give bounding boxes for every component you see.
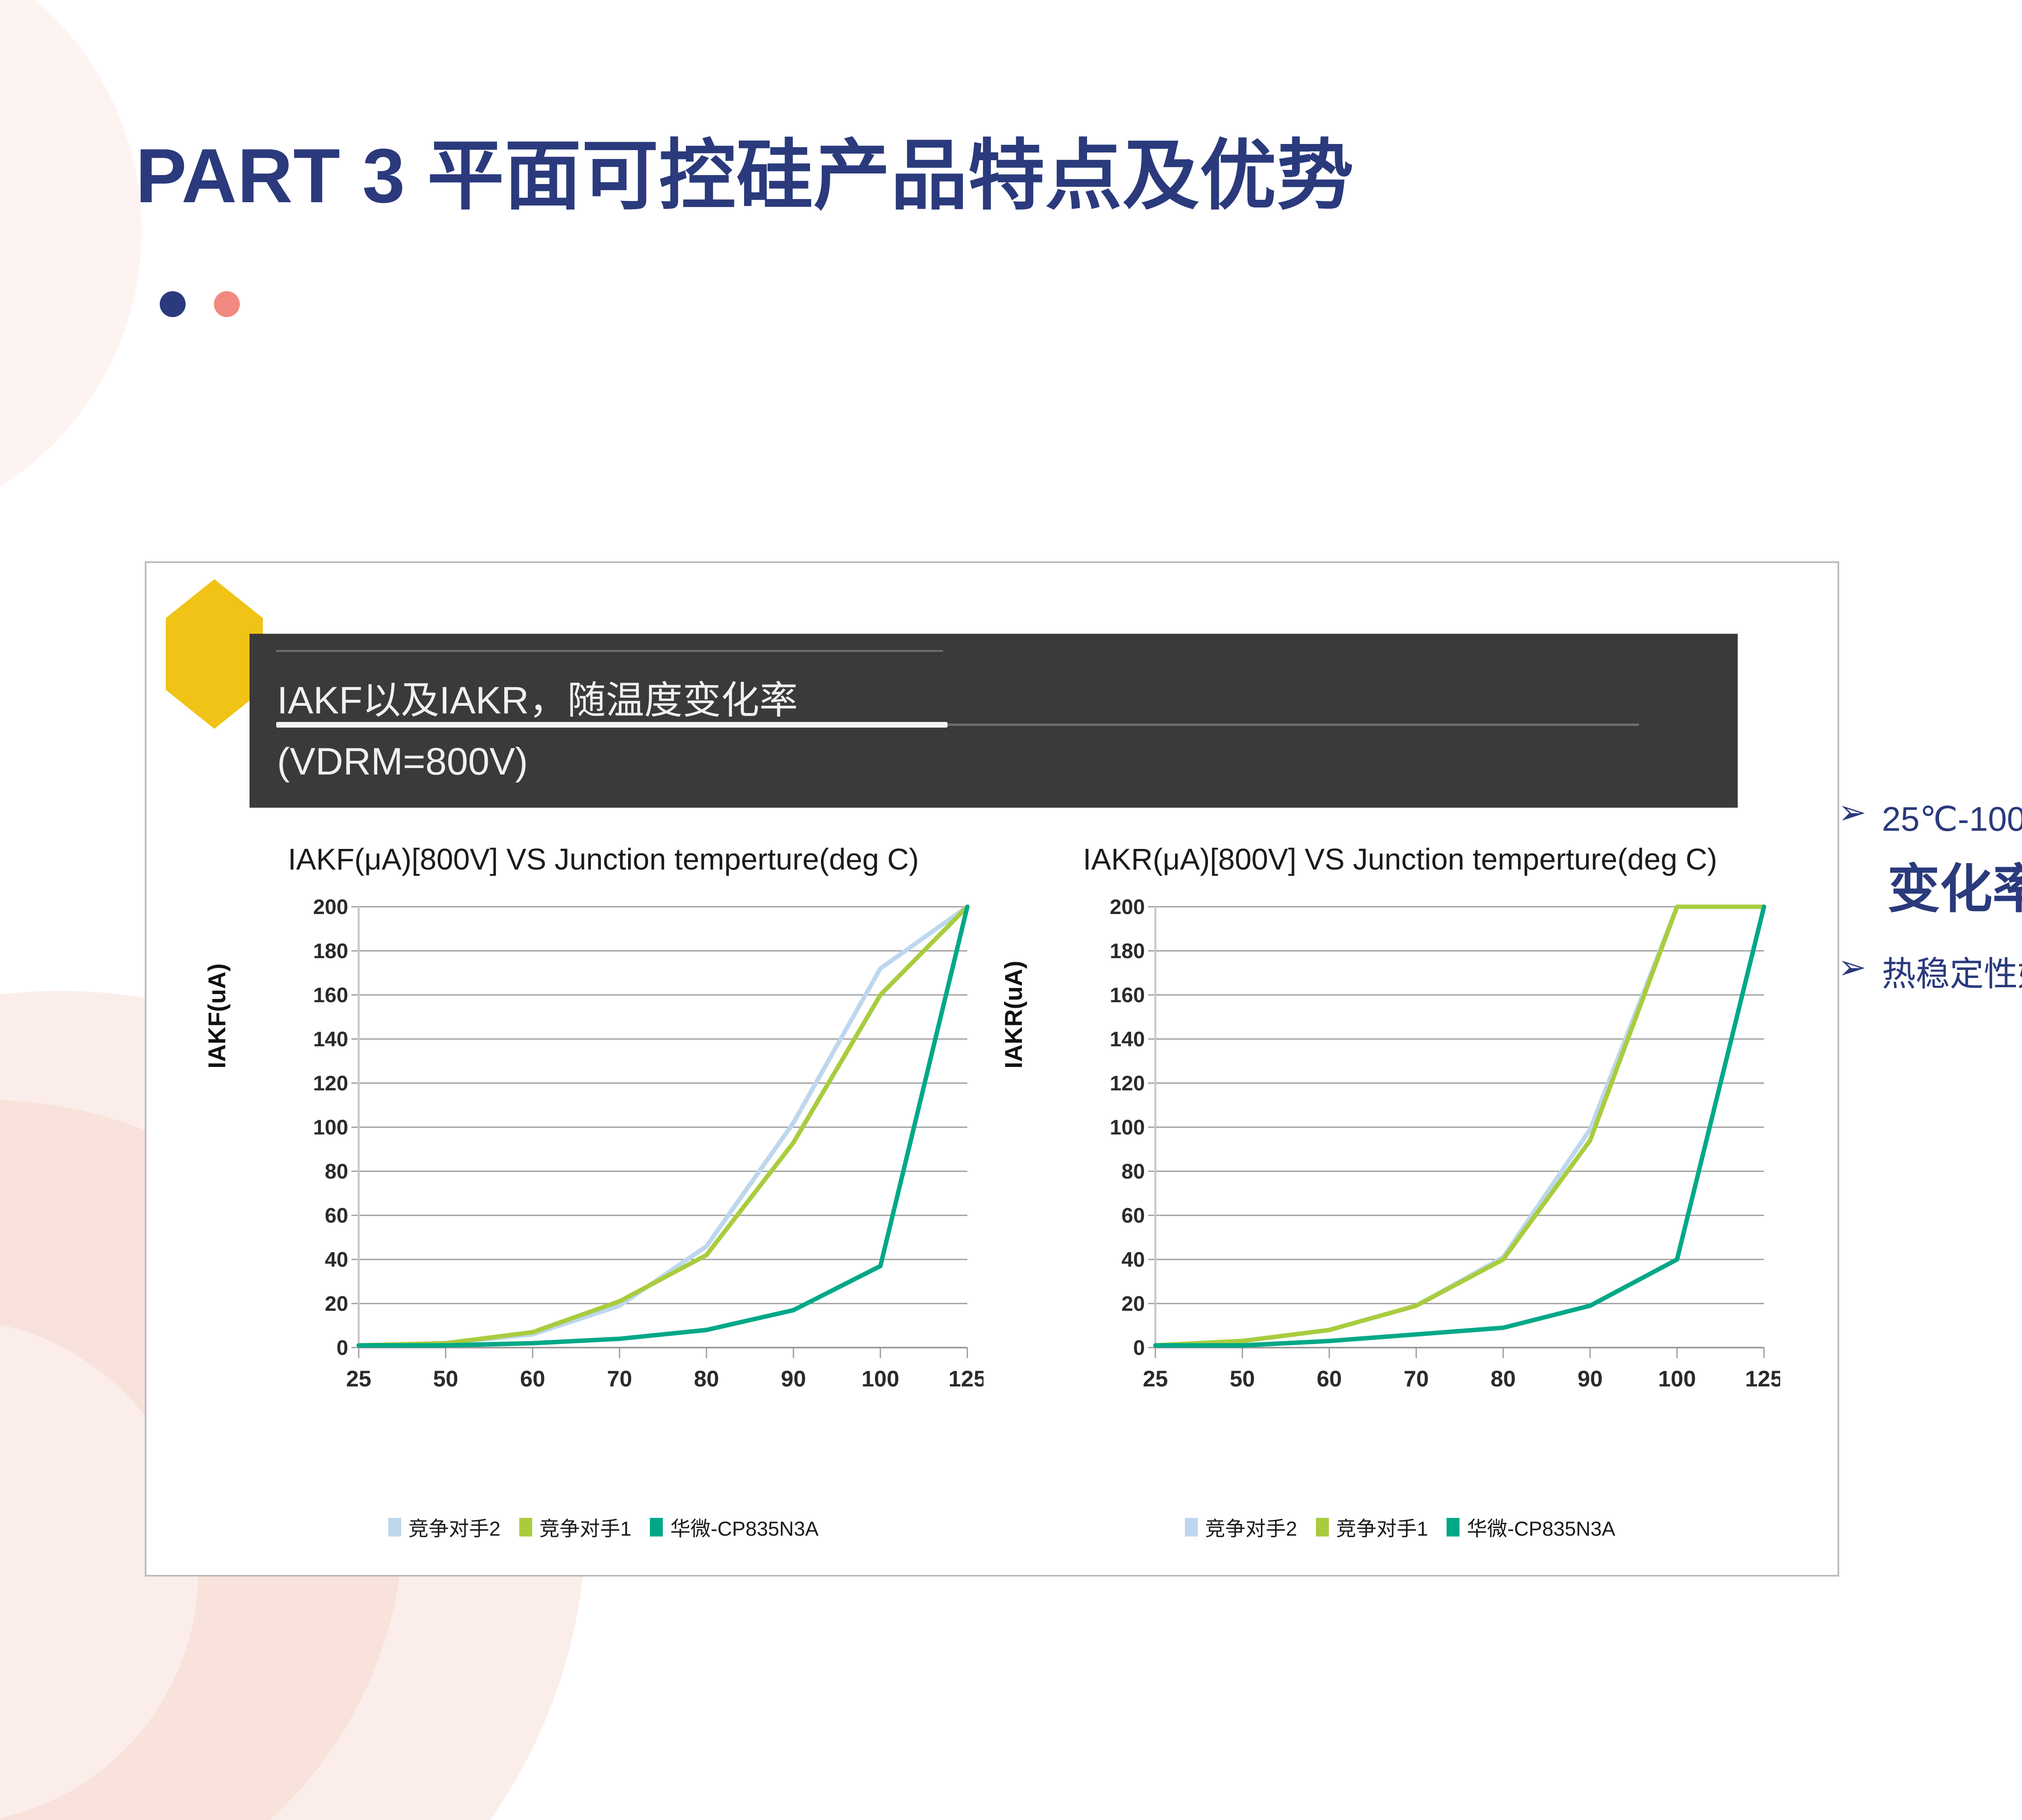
- legend-swatch-icon: [519, 1518, 532, 1536]
- legend-label: 华微-CP835N3A: [670, 1513, 819, 1542]
- svg-text:60: 60: [520, 1366, 545, 1391]
- legend-swatch-icon: [1316, 1518, 1329, 1536]
- svg-text:180: 180: [313, 940, 348, 963]
- svg-text:0: 0: [1133, 1336, 1145, 1360]
- legend-swatch-icon: [1447, 1518, 1459, 1536]
- chart-iakf: IAKF(μA)[800V] VS Junction temperture(de…: [207, 842, 1000, 1538]
- chart-iakr-svg: 0204060801001201401601802002550607080901…: [1085, 895, 1780, 1424]
- legend-entry: 华微-CP835N3A: [1447, 1513, 1615, 1542]
- legend-swatch-icon: [388, 1518, 401, 1536]
- bullet-arrow-icon: ➢: [1838, 793, 1866, 832]
- svg-text:200: 200: [1110, 895, 1145, 919]
- chart-iakf-plot: 0204060801001201401601802002550607080901…: [288, 895, 984, 1424]
- bullet-item-2: ➢ 热稳定性好！特别适合小触发产品，在高温环境下应用而不易失控！: [1838, 948, 2022, 1000]
- svg-text:25: 25: [346, 1366, 371, 1391]
- svg-text:160: 160: [313, 984, 348, 1007]
- svg-text:60: 60: [1121, 1204, 1145, 1227]
- legend-entry: 竞争对手1: [519, 1513, 632, 1542]
- svg-text:0: 0: [336, 1336, 348, 1360]
- bullet-arrow-icon: ➢: [1838, 948, 1866, 987]
- svg-text:50: 50: [433, 1366, 458, 1391]
- svg-text:100: 100: [313, 1116, 348, 1139]
- bullet-text-1: 25℃-100℃温度区间内的IAK（VDRM=800V）: [1882, 793, 2022, 845]
- figure-banner: IAKF以及IAKR，随温度变化率 (VDRM=800V): [250, 634, 1738, 808]
- svg-text:200: 200: [313, 895, 348, 919]
- svg-text:120: 120: [1110, 1072, 1145, 1095]
- hexagon-decor: [166, 579, 263, 729]
- legend-swatch-icon: [650, 1518, 663, 1536]
- legend-swatch-icon: [1185, 1518, 1198, 1536]
- title-decor-dots: [160, 291, 240, 317]
- svg-text:20: 20: [1121, 1292, 1145, 1316]
- chart-iakf-ylabel: IAKF(uA): [203, 963, 231, 1069]
- svg-text:140: 140: [313, 1028, 348, 1051]
- legend-entry: 竞争对手2: [1185, 1513, 1297, 1542]
- legend-entry: 竞争对手1: [1316, 1513, 1428, 1542]
- legend-entry: 竞争对手2: [388, 1513, 501, 1542]
- svg-text:160: 160: [1110, 984, 1145, 1007]
- page-title: PART 3 平面可控硅产品特点及优势: [135, 113, 1354, 224]
- legend-entry: 华微-CP835N3A: [650, 1513, 819, 1542]
- svg-text:140: 140: [1110, 1028, 1145, 1051]
- svg-text:50: 50: [1230, 1366, 1255, 1391]
- svg-text:80: 80: [325, 1160, 348, 1183]
- chart-iakr: IAKR(μA)[800V] VS Junction temperture(de…: [1004, 842, 1796, 1538]
- decor-dot-blue: [160, 291, 186, 317]
- bullet-text-2: 热稳定性好！特别适合小触发产品，在高温环境下应用而不易失控！: [1882, 948, 2022, 1000]
- chart-iakr-title: IAKR(μA)[800V] VS Junction temperture(de…: [1004, 842, 1796, 876]
- svg-text:90: 90: [1578, 1366, 1603, 1391]
- svg-text:80: 80: [1491, 1366, 1516, 1391]
- legend-label: 华微-CP835N3A: [1467, 1513, 1615, 1542]
- hexagon-icon: [166, 579, 263, 729]
- chart-iakf-title: IAKF(μA)[800V] VS Junction temperture(de…: [207, 842, 1000, 876]
- svg-text:90: 90: [781, 1366, 806, 1391]
- svg-text:70: 70: [1404, 1366, 1429, 1391]
- banner-subheading: (VDRM=800V): [277, 740, 528, 784]
- emphasis-text: 变化率均小于40μA！: [1887, 855, 2022, 923]
- chart-iakr-plot: 0204060801001201401601802002550607080901…: [1085, 895, 1780, 1424]
- bullet-item-1: ➢ 25℃-100℃温度区间内的IAK（VDRM=800V）: [1838, 793, 2022, 845]
- banner-rule-white: [276, 722, 948, 728]
- bullet-list: ➢ 25℃-100℃温度区间内的IAK（VDRM=800V） 变化率均小于40μ…: [1838, 793, 2022, 1007]
- svg-text:120: 120: [313, 1072, 348, 1095]
- svg-text:100: 100: [1110, 1116, 1145, 1139]
- svg-text:100: 100: [1658, 1366, 1696, 1391]
- svg-text:70: 70: [607, 1366, 632, 1391]
- slide-root: JSMC Product Release PART 3 平面可控硅产品特点及优势…: [0, 0, 2022, 1820]
- svg-text:60: 60: [325, 1204, 348, 1227]
- svg-text:60: 60: [1317, 1366, 1342, 1391]
- chart-iakr-ylabel: IAKR(uA): [1000, 961, 1028, 1069]
- decor-dot-pink: [214, 291, 240, 317]
- legend-label: 竞争对手1: [539, 1513, 632, 1542]
- svg-text:40: 40: [325, 1248, 348, 1272]
- figure-frame: IAKF以及IAKR，随温度变化率 (VDRM=800V) IAKF(μA)[8…: [145, 561, 1839, 1577]
- chart-iakr-legend: 竞争对手2竞争对手1华微-CP835N3A: [1004, 1513, 1796, 1542]
- svg-text:25: 25: [1143, 1366, 1168, 1391]
- legend-label: 竞争对手2: [408, 1513, 501, 1542]
- legend-label: 竞争对手2: [1205, 1513, 1297, 1542]
- svg-text:100: 100: [861, 1366, 899, 1391]
- svg-text:125: 125: [948, 1366, 984, 1391]
- svg-text:180: 180: [1110, 940, 1145, 963]
- decor-arc-top-left: [0, 0, 142, 534]
- banner-rule-top: [276, 650, 943, 652]
- svg-text:80: 80: [694, 1366, 719, 1391]
- chart-iakf-svg: 0204060801001201401601802002550607080901…: [288, 895, 984, 1424]
- svg-text:20: 20: [325, 1292, 348, 1316]
- svg-text:80: 80: [1121, 1160, 1145, 1183]
- svg-text:125: 125: [1745, 1366, 1780, 1391]
- svg-text:40: 40: [1121, 1248, 1145, 1272]
- chart-iakf-legend: 竞争对手2竞争对手1华微-CP835N3A: [207, 1513, 1000, 1542]
- legend-label: 竞争对手1: [1336, 1513, 1428, 1542]
- banner-heading: IAKF以及IAKR，随温度变化率: [277, 669, 798, 725]
